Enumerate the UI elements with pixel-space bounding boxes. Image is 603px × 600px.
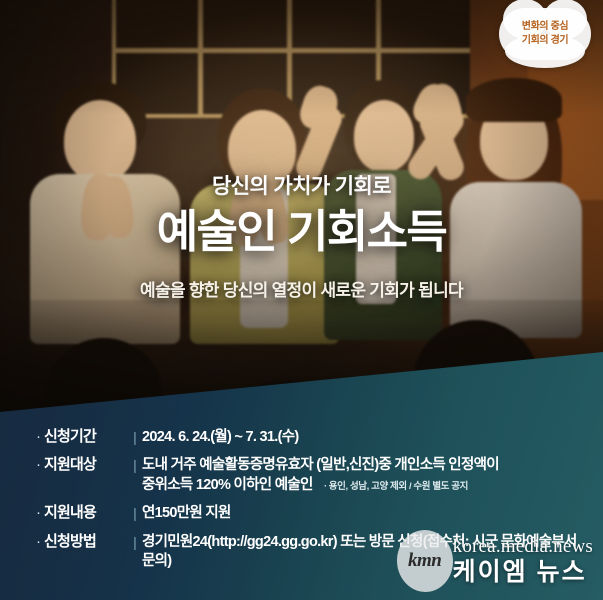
bullet-icon: · [36,428,41,447]
poster-canvas: 변화의 중심 기회의 경기 당신의 가치가 기회로 예술인 기회소득 예술을 향… [0,0,603,600]
badge-line-1: 변화의 중심 [522,21,568,34]
divider-icon: | [128,428,142,446]
poster-subtitle: 예술을 향한 당신의 열정이 새로운 기회가 됩니다 [0,276,603,301]
divider-icon: | [128,533,142,551]
info-value-line-1: 도내 거주 예술활동증명유효자 (일반,신진)중 개인소득 인정액이 [142,457,499,473]
bullet-icon: · [36,533,41,552]
divider-icon: | [128,504,142,522]
info-label: 신청방법 [44,533,128,552]
note-bullet-icon: · [324,481,327,492]
eligibility-second-line: 중위소득 120% 이하인 예술인 [142,477,313,493]
info-value: 경기민원24(http://gg24.gg.go.kr) 또는 방문 신청(접수… [142,533,581,572]
badge-text: 변화의 중심 기회의 경기 [499,8,591,60]
info-value-line-2: 중위소득 120% 이하인 예술인 ·용인, 성남, 고양 제외 / 수원 별도… [142,476,581,495]
info-label: 신청기간 [44,428,128,447]
bullet-icon: · [36,504,41,523]
info-value: 연150만원 지원 [142,504,581,523]
poster-title: 예술인 기회소득 [0,208,603,256]
badge-line-2: 기회의 경기 [522,35,568,48]
headline-block: 당신의 가치가 기회로 예술인 기회소득 예술을 향한 당신의 열정이 새로운 … [0,170,603,301]
info-row-support-amount: · 지원내용 | 연150만원 지원 [36,504,581,523]
bullet-icon: · [36,456,41,475]
gyeonggi-slogan-badge: 변화의 중심 기회의 경기 [499,8,591,60]
headline-kicker: 당신의 가치가 기회로 [0,170,603,200]
info-value: 도내 거주 예술활동증명유효자 (일반,신진)중 개인소득 인정액이 중위소득 … [142,456,581,495]
info-row-how-to-apply: · 신청방법 | 경기민원24(http://gg24.gg.go.kr) 또는… [36,533,581,572]
info-detail-list: · 신청기간 | 2024. 6. 24.(월) ~ 7. 31.(수) · 지… [36,428,581,581]
info-label: 지원내용 [44,504,128,523]
divider-icon: | [128,456,142,474]
info-row-application-period: · 신청기간 | 2024. 6. 24.(월) ~ 7. 31.(수) [36,428,581,447]
eligibility-note: ·용인, 성남, 고양 제외 / 수원 별도 공지 [324,481,468,492]
info-label: 지원대상 [44,456,128,475]
info-value: 2024. 6. 24.(월) ~ 7. 31.(수) [142,428,581,447]
info-row-eligibility: · 지원대상 | 도내 거주 예술활동증명유효자 (일반,신진)중 개인소득 인… [36,456,581,495]
eligibility-note-text: 용인, 성남, 고양 제외 / 수원 별도 공지 [329,481,468,492]
